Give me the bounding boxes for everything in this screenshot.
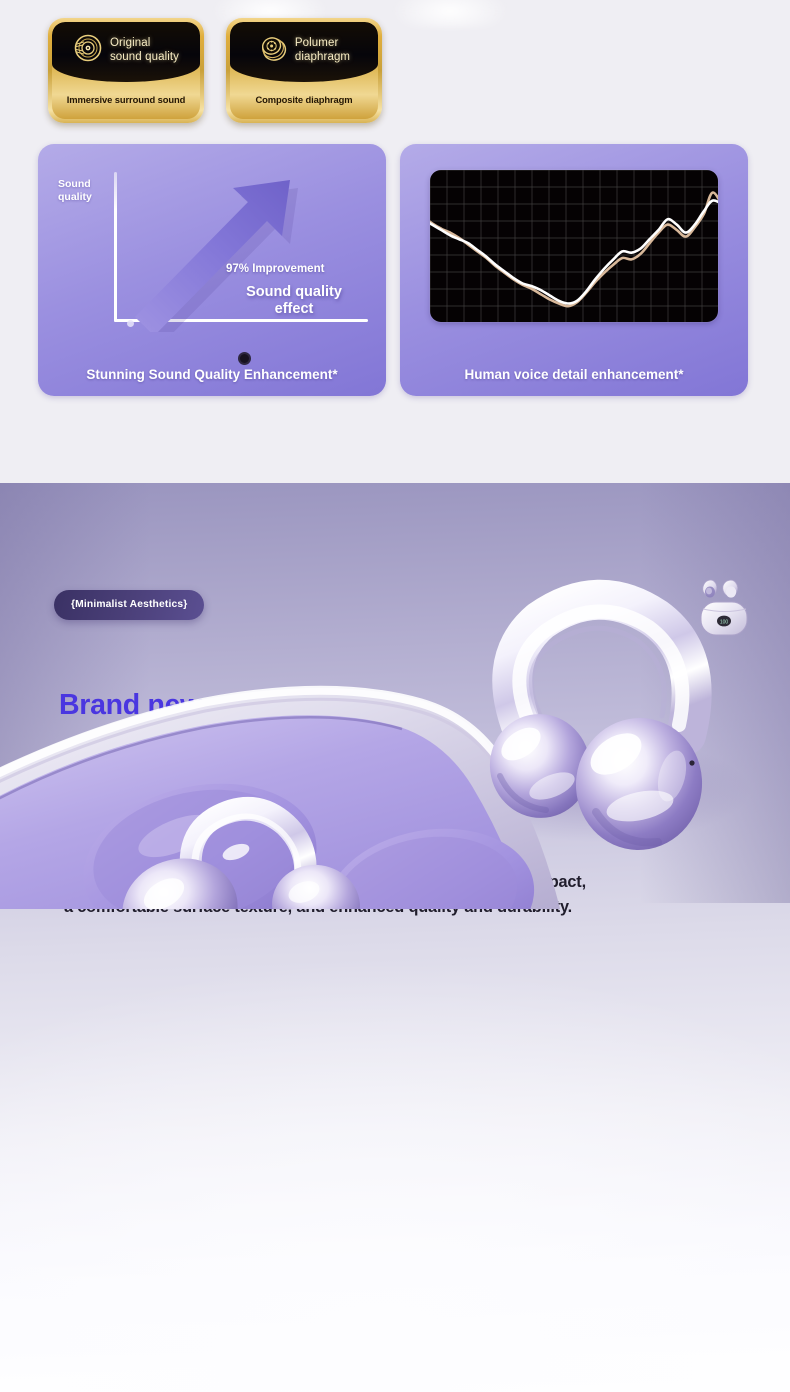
waveform-series xyxy=(430,200,718,303)
improvement-label: 97% Improvement xyxy=(226,263,324,275)
feature-card-row: Soundquality 97% Improvement xyxy=(38,144,748,396)
badge-caption: Composite diaphragm xyxy=(255,94,352,105)
minimalist-aesthetics-tag[interactable]: {Minimalist Aesthetics} xyxy=(54,590,204,620)
feature-badge-row: Originalsound quality Immersive surround… xyxy=(48,18,382,123)
waveform-svg xyxy=(430,170,718,322)
badge-title: Polumerdiaphragm xyxy=(295,37,350,64)
chart-origin-point xyxy=(127,320,134,327)
specs-section: Originalsound quality Immersive surround… xyxy=(0,0,790,483)
card-caption: Stunning Sound Quality Enhancement* xyxy=(38,367,386,382)
card-voice-detail-waveform[interactable]: Human voice detail enhancement* xyxy=(400,144,748,396)
diaphragm-cone-icon xyxy=(258,33,288,68)
badge-polumer-diaphragm[interactable]: Polumerdiaphragm Composite diaphragm xyxy=(226,18,382,123)
decorative-wisp xyxy=(390,0,510,28)
hero-right-vignette xyxy=(640,483,790,903)
vinyl-record-icon xyxy=(73,33,103,68)
waveform-chart xyxy=(430,170,718,322)
badge-caption: Immersive surround sound xyxy=(67,94,185,105)
badge-title: Originalsound quality xyxy=(110,37,179,64)
svg-text:100: 100 xyxy=(720,620,729,626)
hero-headline-large: Plated Metal, Simple Aesthetics xyxy=(63,776,515,812)
badge-top: Originalsound quality xyxy=(52,22,200,82)
card-caption: Human voice detail enhancement* xyxy=(400,367,748,382)
badge-original-sound-quality[interactable]: Originalsound quality Immersive surround… xyxy=(48,18,204,123)
earbuds-case-icon: 100 xyxy=(697,575,753,645)
hero-headline-small: Brand new on-ear fashion xyxy=(59,689,402,722)
hero-body-copy: Made of metal material, the headphones h… xyxy=(64,870,594,920)
card-sound-quality-growth[interactable]: Soundquality 97% Improvement xyxy=(38,144,386,396)
effect-label: Sound qualityeffect xyxy=(224,284,364,318)
badge-top: Polumerdiaphragm xyxy=(230,22,378,82)
chart-data-point-marker xyxy=(238,352,251,365)
